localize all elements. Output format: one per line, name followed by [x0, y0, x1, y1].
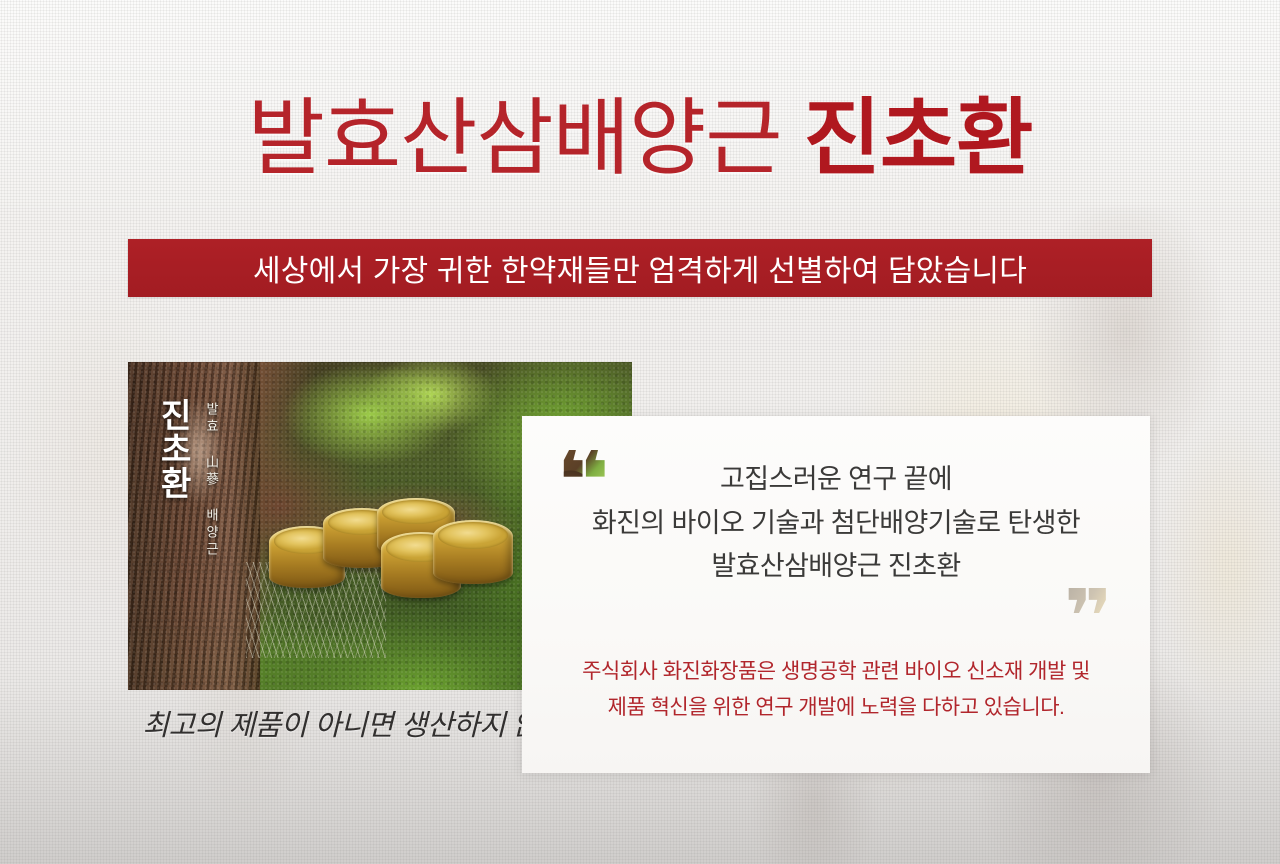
quote-card: ❝ 고집스러운 연구 끝에 화진의 바이오 기술과 첨단배양기술로 탄생한 발효… — [522, 416, 1150, 773]
company-line: 주식회사 화진화장품은 생명공학 관련 바이오 신소재 개발 및 — [522, 654, 1150, 690]
company-description-block: 주식회사 화진화장품은 생명공학 관련 바이오 신소재 개발 및 제품 혁신을 … — [522, 654, 1150, 726]
page-title-light: 발효산삼배양근 — [248, 91, 782, 185]
quote-line: 고집스러운 연구 끝에 — [522, 458, 1150, 502]
photo-brand-logo: 진초환 — [152, 398, 194, 500]
quote-line: 화진의 바이오 기술과 첨단배양기술로 탄생한 — [522, 502, 1150, 546]
subtitle-banner: 세상에서 가장 귀한 한약재들만 엄격하게 선별하여 담았습니다 — [128, 239, 1152, 297]
product-jar — [433, 520, 513, 584]
photo-brand-sublabel: 발효 山蔘 배양근 — [202, 402, 221, 559]
page-title-bold: 진초환 — [804, 91, 1033, 185]
subtitle-banner-text: 세상에서 가장 귀한 한약재들만 엄격하게 선별하여 담았습니다 — [253, 246, 1027, 290]
promo-banner-stage: 발효산삼배양근진초환 세상에서 가장 귀한 한약재들만 엄격하게 선별하여 담았… — [0, 0, 1280, 864]
page-title: 발효산삼배양근진초환 — [0, 96, 1280, 180]
quote-text-block: 고집스러운 연구 끝에 화진의 바이오 기술과 첨단배양기술로 탄생한 발효산삼… — [522, 458, 1150, 589]
quote-close-icon: ❞ — [1064, 588, 1112, 647]
quote-line: 발효산삼배양근 진초환 — [522, 545, 1150, 589]
company-line: 제품 혁신을 위한 연구 개발에 노력을 다하고 있습니다. — [522, 690, 1150, 726]
